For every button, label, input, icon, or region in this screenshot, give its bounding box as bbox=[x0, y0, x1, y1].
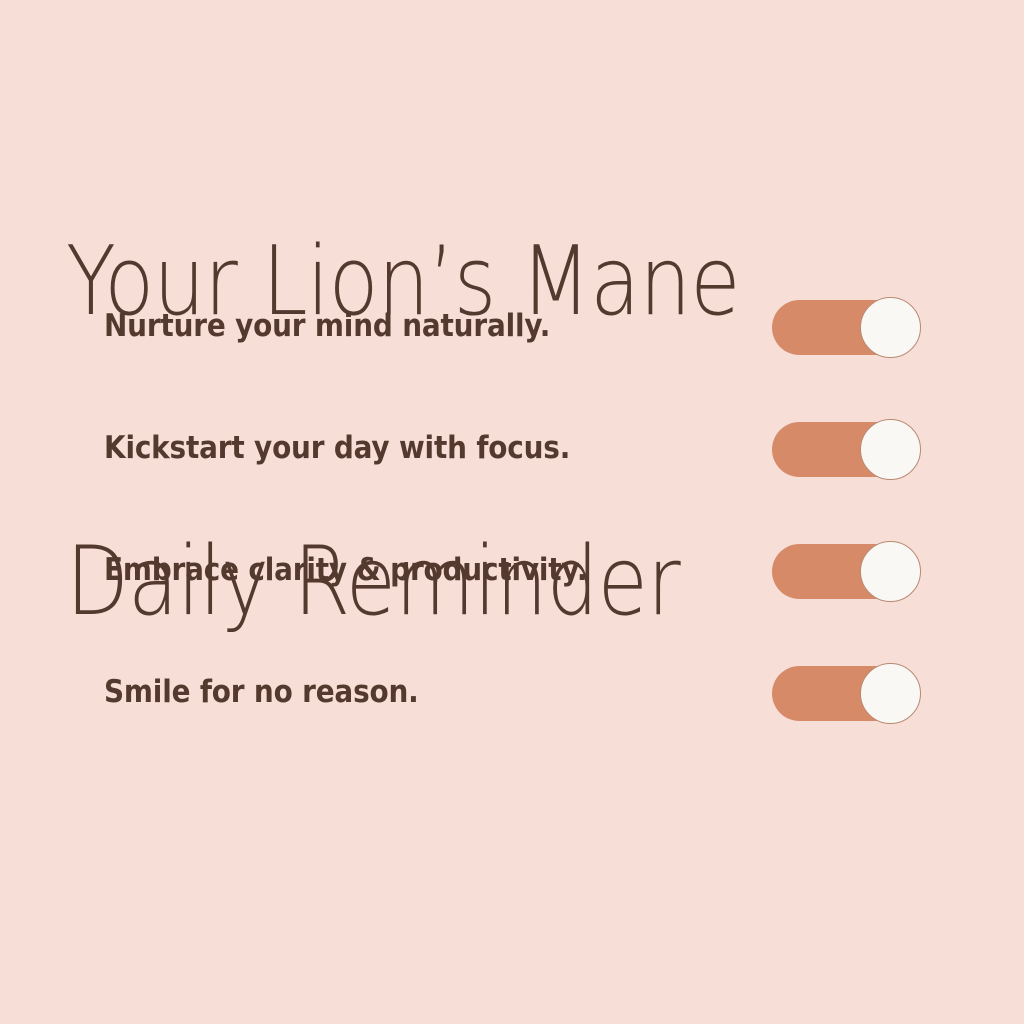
reminder-row: Kickstart your day with focus. bbox=[0, 410, 1024, 532]
reminder-row: Embrace clarity & productivity. bbox=[0, 532, 1024, 654]
reminder-card: Your Lion’s Mane Daily Reminder Nurture … bbox=[0, 0, 1024, 1024]
toggle-nurture-your-mind[interactable] bbox=[772, 300, 920, 355]
toggle-knob-icon bbox=[860, 663, 921, 724]
toggle-kickstart-your-day[interactable] bbox=[772, 422, 920, 477]
reminder-label: Smile for no reason. bbox=[104, 672, 419, 712]
toggle-knob-icon bbox=[860, 541, 921, 602]
toggle-embrace-clarity[interactable] bbox=[772, 544, 920, 599]
toggle-knob-icon bbox=[860, 297, 921, 358]
reminder-label: Kickstart your day with focus. bbox=[104, 428, 570, 468]
toggle-knob-icon bbox=[860, 419, 921, 480]
reminder-list: Nurture your mind naturally. Kickstart y… bbox=[0, 288, 1024, 776]
reminder-label: Embrace clarity & productivity. bbox=[104, 550, 587, 590]
reminder-row: Smile for no reason. bbox=[0, 654, 1024, 776]
reminder-row: Nurture your mind naturally. bbox=[0, 288, 1024, 410]
reminder-label: Nurture your mind naturally. bbox=[104, 306, 550, 346]
toggle-smile-for-no-reason[interactable] bbox=[772, 666, 920, 721]
